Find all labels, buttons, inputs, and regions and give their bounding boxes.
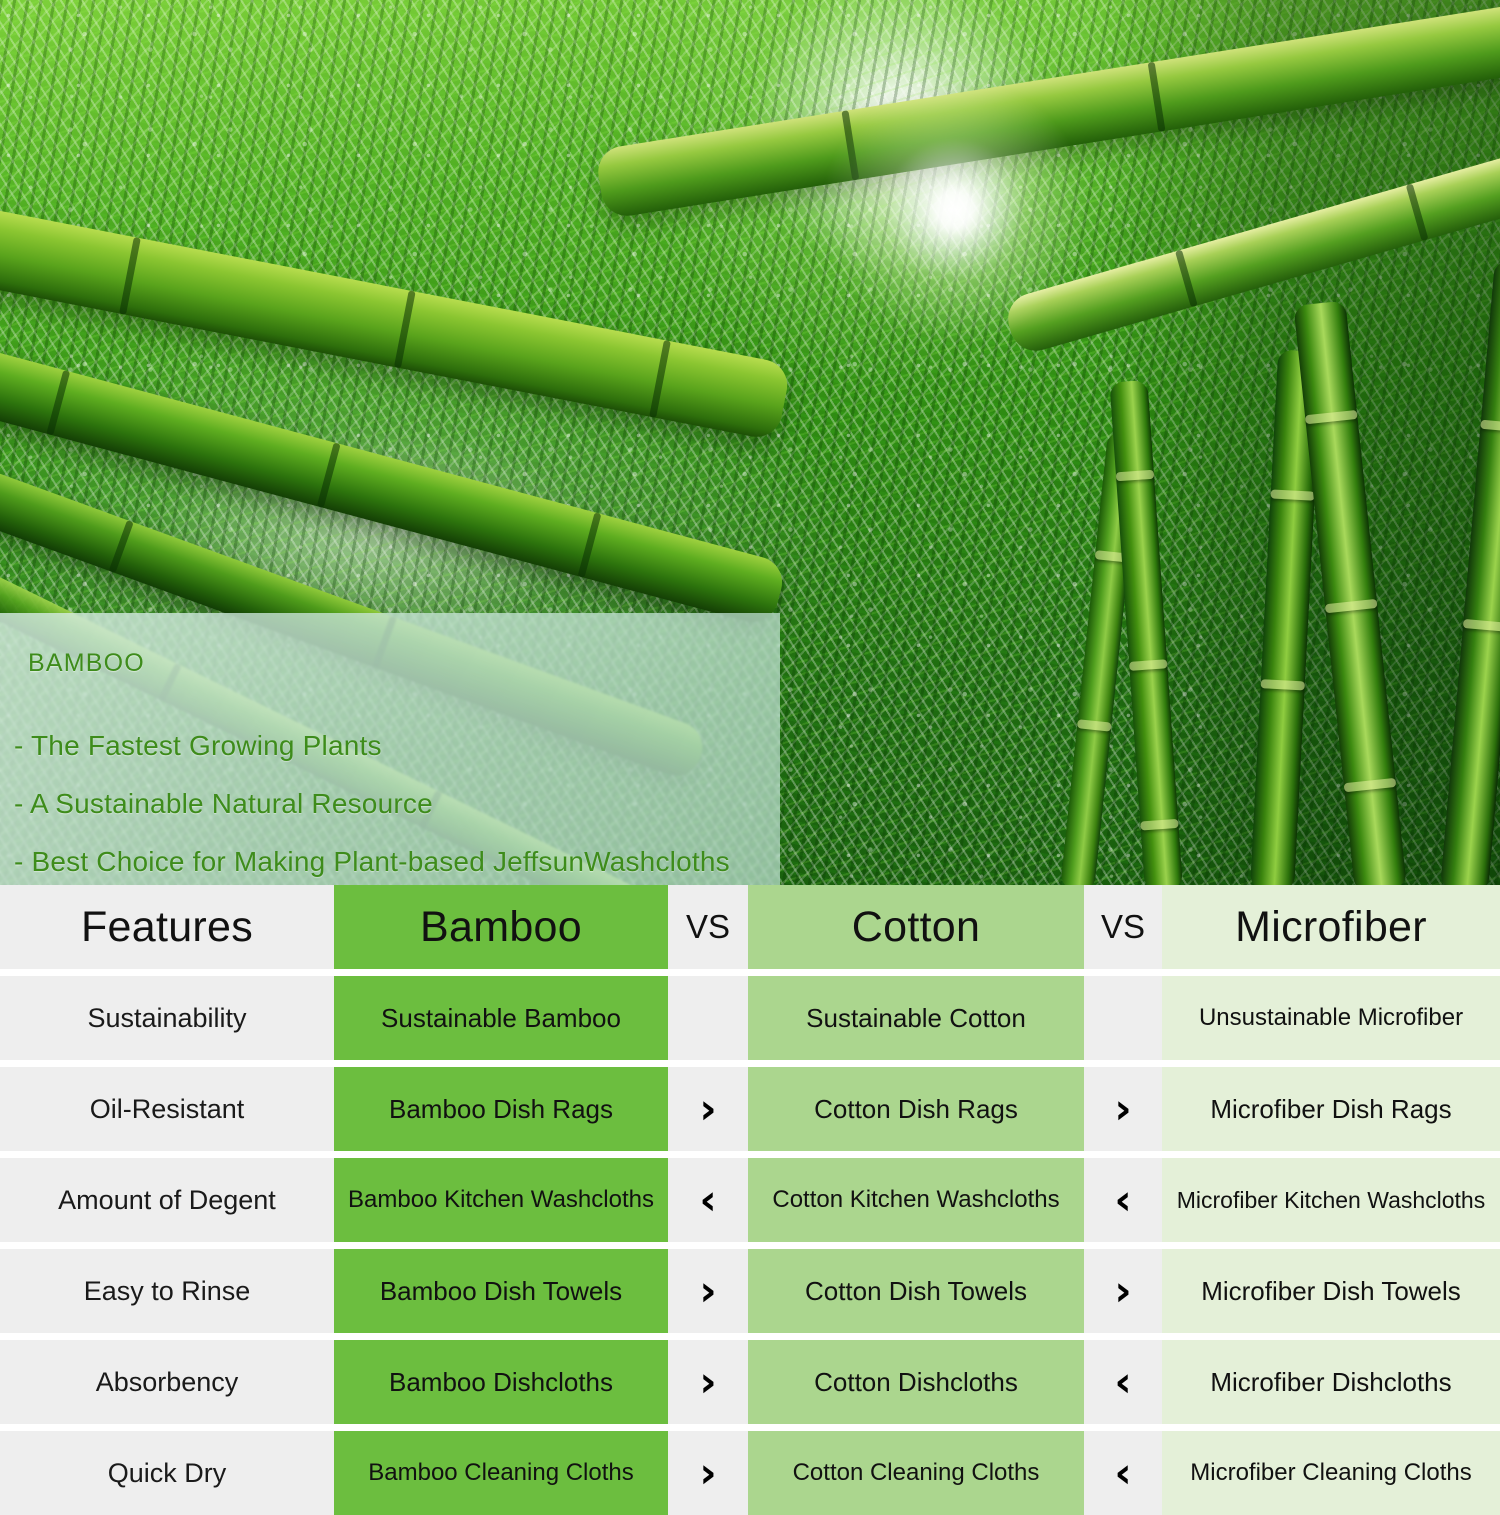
header-cell-vs-1: VS bbox=[668, 885, 748, 969]
row-operator-cell-1: › bbox=[668, 1340, 748, 1424]
bamboo-value: Bamboo Cleaning Cloths bbox=[362, 1459, 640, 1487]
comparison-operator-icon: ‹ bbox=[1114, 1452, 1131, 1494]
header-cell-cotton: Cotton bbox=[748, 885, 1084, 969]
row-cotton-cell: Cotton Cleaning Cloths bbox=[748, 1431, 1084, 1515]
row-operator-cell-2 bbox=[1084, 976, 1162, 1060]
row-microfiber-cell: Unsustainable Microfiber bbox=[1162, 976, 1500, 1060]
microfiber-value: Microfiber Dishcloths bbox=[1204, 1367, 1457, 1398]
row-operator-cell-2: ‹ bbox=[1084, 1340, 1162, 1424]
comparison-operator-icon: › bbox=[1114, 1088, 1131, 1130]
cotton-value: Cotton Dishcloths bbox=[808, 1367, 1024, 1398]
feature-label: Easy to Rinse bbox=[84, 1276, 251, 1307]
microfiber-value: Microfiber Kitchen Washcloths bbox=[1171, 1187, 1491, 1214]
cotton-value: Cotton Dish Towels bbox=[799, 1276, 1033, 1307]
table-row: Easy to Rinse Bamboo Dish Towels › Cotto… bbox=[0, 1249, 1500, 1333]
overlay-bullet-3: - Best Choice for Making Plant-based Jef… bbox=[14, 846, 780, 878]
row-feature-cell: Quick Dry bbox=[0, 1431, 334, 1515]
bamboo-value: Bamboo Kitchen Washcloths bbox=[342, 1186, 660, 1214]
row-feature-cell: Sustainability bbox=[0, 976, 334, 1060]
feature-label: Sustainability bbox=[87, 1003, 246, 1034]
row-microfiber-cell: Microfiber Dishcloths bbox=[1162, 1340, 1500, 1424]
row-feature-cell: Absorbency bbox=[0, 1340, 334, 1424]
table-row: Absorbency Bamboo Dishcloths › Cotton Di… bbox=[0, 1340, 1500, 1424]
row-bamboo-cell: Bamboo Cleaning Cloths bbox=[334, 1431, 668, 1515]
table-header-row: Features Bamboo VS Cotton VS Microfiber bbox=[0, 885, 1500, 969]
row-bamboo-cell: Bamboo Kitchen Washcloths bbox=[334, 1158, 668, 1242]
bamboo-value: Bamboo Dishcloths bbox=[383, 1367, 619, 1398]
feature-label: Oil-Resistant bbox=[90, 1094, 245, 1125]
cotton-value: Cotton Cleaning Cloths bbox=[787, 1459, 1046, 1487]
row-cotton-cell: Cotton Kitchen Washcloths bbox=[748, 1158, 1084, 1242]
row-operator-cell-2: › bbox=[1084, 1249, 1162, 1333]
row-cotton-cell: Cotton Dish Rags bbox=[748, 1067, 1084, 1151]
overlay-title: BAMBOO bbox=[28, 649, 780, 678]
table-row: Amount of Degent Bamboo Kitchen Washclot… bbox=[0, 1158, 1500, 1242]
comparison-operator-icon: ‹ bbox=[1114, 1361, 1131, 1403]
row-bamboo-cell: Bamboo Dish Rags bbox=[334, 1067, 668, 1151]
comparison-operator-icon: › bbox=[699, 1088, 716, 1130]
bamboo-value: Bamboo Dish Rags bbox=[383, 1094, 619, 1125]
feature-label: Amount of Degent bbox=[58, 1185, 276, 1216]
row-operator-cell-2: ‹ bbox=[1084, 1158, 1162, 1242]
bamboo-info-overlay: BAMBOO - The Fastest Growing Plants - A … bbox=[0, 613, 780, 885]
row-operator-cell-1: › bbox=[668, 1067, 748, 1151]
cotton-value: Cotton Dish Rags bbox=[808, 1094, 1024, 1125]
overlay-bullet-2: - A Sustainable Natural Resource bbox=[14, 788, 780, 820]
row-feature-cell: Amount of Degent bbox=[0, 1158, 334, 1242]
sun-flare bbox=[790, 60, 1120, 360]
cotton-value: Sustainable Cotton bbox=[800, 1003, 1032, 1034]
microfiber-value: Microfiber Dish Rags bbox=[1204, 1094, 1457, 1125]
bamboo-value: Sustainable Bamboo bbox=[375, 1003, 627, 1034]
feature-label: Absorbency bbox=[96, 1367, 239, 1398]
row-operator-cell-1: › bbox=[668, 1431, 748, 1515]
cotton-value: Cotton Kitchen Washcloths bbox=[766, 1186, 1065, 1214]
microfiber-value: Unsustainable Microfiber bbox=[1193, 1004, 1469, 1032]
row-operator-cell-2: › bbox=[1084, 1067, 1162, 1151]
overlay-bullet-1: - The Fastest Growing Plants bbox=[14, 730, 780, 762]
feature-label: Quick Dry bbox=[108, 1458, 227, 1489]
vs-label-1: VS bbox=[686, 908, 730, 946]
microfiber-value: Microfiber Dish Towels bbox=[1195, 1276, 1467, 1307]
microfiber-value: Microfiber Cleaning Cloths bbox=[1184, 1459, 1477, 1487]
comparison-operator-icon: › bbox=[699, 1452, 716, 1494]
bamboo-value: Bamboo Dish Towels bbox=[374, 1276, 628, 1307]
row-microfiber-cell: Microfiber Dish Towels bbox=[1162, 1249, 1500, 1333]
table-row: Quick Dry Bamboo Cleaning Cloths › Cotto… bbox=[0, 1431, 1500, 1515]
vs-label-2: VS bbox=[1101, 908, 1145, 946]
header-label-bamboo: Bamboo bbox=[420, 903, 582, 952]
row-bamboo-cell: Sustainable Bamboo bbox=[334, 976, 668, 1060]
row-bamboo-cell: Bamboo Dish Towels bbox=[334, 1249, 668, 1333]
row-operator-cell-2: ‹ bbox=[1084, 1431, 1162, 1515]
comparison-operator-icon: › bbox=[699, 1361, 716, 1403]
comparison-table: Features Bamboo VS Cotton VS Microfiber … bbox=[0, 885, 1500, 1515]
header-label-microfiber: Microfiber bbox=[1235, 903, 1427, 952]
row-operator-cell-1: ‹ bbox=[668, 1158, 748, 1242]
row-microfiber-cell: Microfiber Dish Rags bbox=[1162, 1067, 1500, 1151]
row-feature-cell: Easy to Rinse bbox=[0, 1249, 334, 1333]
header-label-features: Features bbox=[81, 903, 253, 952]
table-row: Sustainability Sustainable Bamboo Sustai… bbox=[0, 976, 1500, 1060]
row-operator-cell-1: › bbox=[668, 1249, 748, 1333]
header-label-cotton: Cotton bbox=[852, 903, 981, 952]
comparison-operator-icon: ‹ bbox=[699, 1179, 716, 1221]
row-microfiber-cell: Microfiber Kitchen Washcloths bbox=[1162, 1158, 1500, 1242]
row-bamboo-cell: Bamboo Dishcloths bbox=[334, 1340, 668, 1424]
table-row: Oil-Resistant Bamboo Dish Rags › Cotton … bbox=[0, 1067, 1500, 1151]
page-root: BAMBOO - The Fastest Growing Plants - A … bbox=[0, 0, 1500, 1500]
header-cell-microfiber: Microfiber bbox=[1162, 885, 1500, 969]
comparison-operator-icon: › bbox=[1114, 1270, 1131, 1312]
row-cotton-cell: Cotton Dish Towels bbox=[748, 1249, 1084, 1333]
row-cotton-cell: Cotton Dishcloths bbox=[748, 1340, 1084, 1424]
comparison-operator-icon: ‹ bbox=[1114, 1179, 1131, 1221]
row-operator-cell-1 bbox=[668, 976, 748, 1060]
row-feature-cell: Oil-Resistant bbox=[0, 1067, 334, 1151]
header-cell-features: Features bbox=[0, 885, 334, 969]
header-cell-bamboo: Bamboo bbox=[334, 885, 668, 969]
header-cell-vs-2: VS bbox=[1084, 885, 1162, 969]
row-microfiber-cell: Microfiber Cleaning Cloths bbox=[1162, 1431, 1500, 1515]
row-cotton-cell: Sustainable Cotton bbox=[748, 976, 1084, 1060]
comparison-operator-icon: › bbox=[699, 1270, 716, 1312]
